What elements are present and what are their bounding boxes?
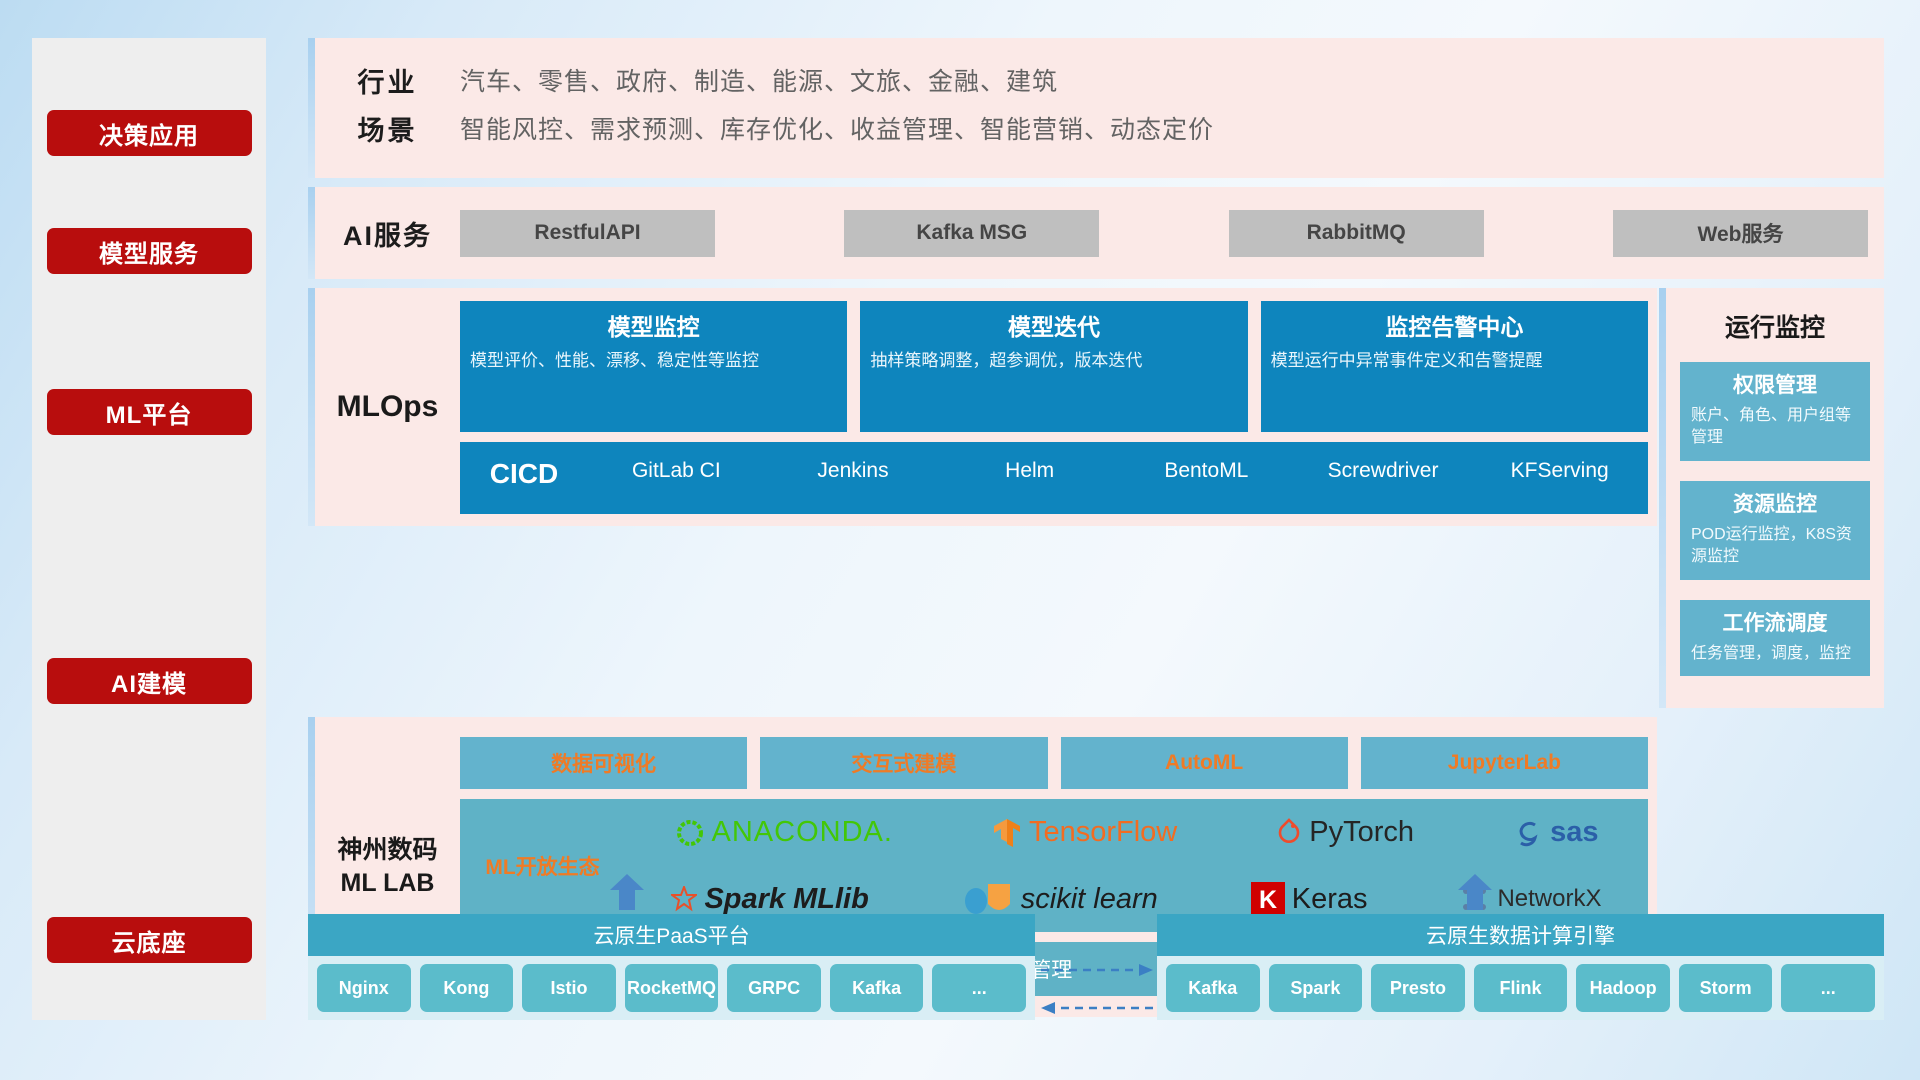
rail-item-ml-platform[interactable]: ML平台 [47, 389, 252, 435]
rail-item-cloud-base[interactable]: 云底座 [47, 917, 252, 963]
engine-chip-spark[interactable]: Spark [1269, 964, 1363, 1012]
cicd-item-jenkins[interactable]: Jenkins [765, 458, 942, 484]
ai-service-chip-restfulapi[interactable]: RestfulAPI [460, 210, 715, 257]
tab-jupyterlab[interactable]: JupyterLab [1361, 737, 1648, 789]
layer-rail: 决策应用 模型服务 ML平台 AI建模 云底座 [32, 38, 266, 1020]
monitor-card-resource[interactable]: 资源监控 POD运行监控，K8S资源监控 [1680, 481, 1870, 580]
mlops-label: MLOps [315, 390, 460, 424]
ai-service-chip-kafka-msg[interactable]: Kafka MSG [844, 210, 1099, 257]
cicd-item-gitlab-ci[interactable]: GitLab CI [588, 458, 765, 484]
mlops-card-model-monitor[interactable]: 模型监控 模型评价、性能、漂移、稳定性等监控 [460, 301, 847, 432]
scenario-values: 智能风控、需求预测、库存优化、收益管理、智能营销、动态定价 [460, 110, 1214, 146]
cicd-item-screwdriver[interactable]: Screwdriver [1295, 458, 1472, 484]
card-desc: 账户、角色、用户组等管理 [1691, 405, 1859, 450]
monitor-card-workflow[interactable]: 工作流调度 任务管理，调度，监控 [1680, 600, 1870, 676]
mlops-card-alert-center[interactable]: 监控告警中心 模型运行中异常事件定义和告警提醒 [1261, 301, 1648, 432]
cloud-base-section: 云原生PaaS平台 Nginx Kong Istio RocketMQ GRPC… [308, 890, 1884, 1050]
paas-chip-kafka[interactable]: Kafka [830, 964, 924, 1012]
card-title: 模型迭代 [870, 308, 1237, 342]
anaconda-wordmark: ANACONDA. [712, 816, 893, 849]
monitor-card-permission[interactable]: 权限管理 账户、角色、用户组等管理 [1680, 362, 1870, 461]
up-arrow-engine-icon [1456, 874, 1494, 910]
cicd-bar: CICD GitLab CI Jenkins Helm BentoML Scre… [460, 442, 1648, 514]
pytorch-mark-icon [1276, 818, 1302, 848]
card-desc: POD运行监控，K8S资源监控 [1691, 524, 1859, 569]
mlops-band: MLOps 模型监控 模型评价、性能、漂移、稳定性等监控 模型迭代 抽样策略调整… [308, 288, 1657, 526]
card-title: 工作流调度 [1691, 607, 1859, 637]
ai-service-label: AI服务 [315, 214, 460, 253]
engine-chip-more[interactable]: ... [1781, 964, 1875, 1012]
rail-item-model-service[interactable]: 模型服务 [47, 228, 252, 274]
run-monitor-panel: 运行监控 权限管理 账户、角色、用户组等管理 资源监控 POD运行监控，K8S资… [1666, 288, 1884, 708]
sas-mark-icon [1513, 818, 1543, 848]
card-desc: 模型评价、性能、漂移、稳定性等监控 [470, 349, 837, 373]
card-title: 监控告警中心 [1271, 308, 1638, 342]
paas-chip-kong[interactable]: Kong [420, 964, 514, 1012]
mlops-cards: 模型监控 模型评价、性能、漂移、稳定性等监控 模型迭代 抽样策略调整，超参调优，… [460, 301, 1648, 432]
paas-chip-istio[interactable]: Istio [522, 964, 616, 1012]
card-title: 资源监控 [1691, 488, 1859, 518]
tensorflow-mark-icon [992, 817, 1022, 849]
sas-logo: sas [1513, 816, 1598, 849]
up-arrow-paas-icon [608, 874, 646, 910]
paas-chip-rocketmq[interactable]: RocketMQ [625, 964, 719, 1012]
cloud-native-paas-group: 云原生PaaS平台 Nginx Kong Istio RocketMQ GRPC… [308, 914, 1035, 1020]
scenario-row: 场景 智能风控、需求预测、库存优化、收益管理、智能营销、动态定价 [315, 104, 1884, 152]
ai-service-chip-rabbitmq[interactable]: RabbitMQ [1229, 210, 1484, 257]
paas-title: 云原生PaaS平台 [308, 914, 1035, 956]
industry-values: 汽车、零售、政府、制造、能源、文旅、金融、建筑 [460, 62, 1058, 98]
engine-chips: Kafka Spark Presto Flink Hadoop Storm ..… [1157, 956, 1884, 1020]
rail-item-ai-modeling[interactable]: AI建模 [47, 658, 252, 704]
mlops-row: MLOps 模型监控 模型评价、性能、漂移、稳定性等监控 模型迭代 抽样策略调整… [308, 288, 1884, 708]
ai-service-band: AI服务 RestfulAPI Kafka MSG RabbitMQ Web服务 [308, 187, 1884, 279]
anaconda-logo: ANACONDA. [675, 816, 893, 849]
anaconda-mark-icon [675, 818, 705, 848]
cicd-item-kfserving[interactable]: KFServing [1471, 458, 1648, 484]
ai-service-items: RestfulAPI Kafka MSG RabbitMQ Web服务 [460, 210, 1884, 257]
mlops-content: 模型监控 模型评价、性能、漂移、稳定性等监控 模型迭代 抽样策略调整，超参调优，… [460, 301, 1657, 514]
paas-chip-nginx[interactable]: Nginx [317, 964, 411, 1012]
card-title: 权限管理 [1691, 369, 1859, 399]
engine-chip-hadoop[interactable]: Hadoop [1576, 964, 1670, 1012]
ml-lab-label-line1: 神州数码 [315, 834, 460, 867]
tab-data-visualization[interactable]: 数据可视化 [460, 737, 747, 789]
rail-item-decision-app[interactable]: 决策应用 [47, 110, 252, 156]
architecture-main: 行业 汽车、零售、政府、制造、能源、文旅、金融、建筑 场景 智能风控、需求预测、… [308, 38, 1884, 1017]
scenario-label: 场景 [315, 109, 460, 148]
engine-title: 云原生数据计算引擎 [1157, 914, 1884, 956]
tab-interactive-modeling[interactable]: 交互式建模 [760, 737, 1047, 789]
run-monitor-title: 运行监控 [1680, 308, 1870, 344]
engine-chip-kafka[interactable]: Kafka [1166, 964, 1260, 1012]
eco-label: ML开放生态 [460, 851, 625, 881]
pytorch-logo: PyTorch [1276, 816, 1414, 849]
cicd-label: CICD [460, 458, 588, 490]
industry-row: 行业 汽车、零售、政府、制造、能源、文旅、金融、建筑 [315, 56, 1884, 104]
pytorch-wordmark: PyTorch [1309, 816, 1414, 849]
ml-lab-tabs: 数据可视化 交互式建模 AutoML JupyterLab [460, 737, 1648, 789]
ai-service-chip-web-service[interactable]: Web服务 [1613, 210, 1868, 257]
mlops-card-model-iteration[interactable]: 模型迭代 抽样策略调整，超参调优，版本迭代 [860, 301, 1247, 432]
card-desc: 模型运行中异常事件定义和告警提醒 [1271, 349, 1638, 373]
cicd-item-bentoml[interactable]: BentoML [1118, 458, 1295, 484]
cloud-native-data-engine-group: 云原生数据计算引擎 Kafka Spark Presto Flink Hadoo… [1157, 914, 1884, 1020]
engine-chip-storm[interactable]: Storm [1679, 964, 1773, 1012]
card-title: 模型监控 [470, 308, 837, 342]
industry-label: 行业 [315, 61, 460, 100]
bidirectional-dashed-arrows-icon [1041, 956, 1153, 1022]
decision-application-band: 行业 汽车、零售、政府、制造、能源、文旅、金融、建筑 场景 智能风控、需求预测、… [308, 38, 1884, 178]
card-desc: 抽样策略调整，超参调优，版本迭代 [870, 349, 1237, 373]
engine-chip-flink[interactable]: Flink [1474, 964, 1568, 1012]
engine-chip-presto[interactable]: Presto [1371, 964, 1465, 1012]
card-desc: 任务管理，调度，监控 [1691, 643, 1859, 665]
eco-logo-row-1: ANACONDA. TensorFlow [625, 799, 1648, 866]
cicd-item-helm[interactable]: Helm [941, 458, 1118, 484]
tab-automl[interactable]: AutoML [1061, 737, 1348, 789]
paas-chip-grpc[interactable]: GRPC [727, 964, 821, 1012]
paas-chip-more[interactable]: ... [932, 964, 1026, 1012]
paas-chips: Nginx Kong Istio RocketMQ GRPC Kafka ... [308, 956, 1035, 1020]
tensorflow-wordmark: TensorFlow [1029, 816, 1177, 849]
tensorflow-logo: TensorFlow [992, 816, 1177, 849]
sas-wordmark: sas [1550, 816, 1598, 849]
